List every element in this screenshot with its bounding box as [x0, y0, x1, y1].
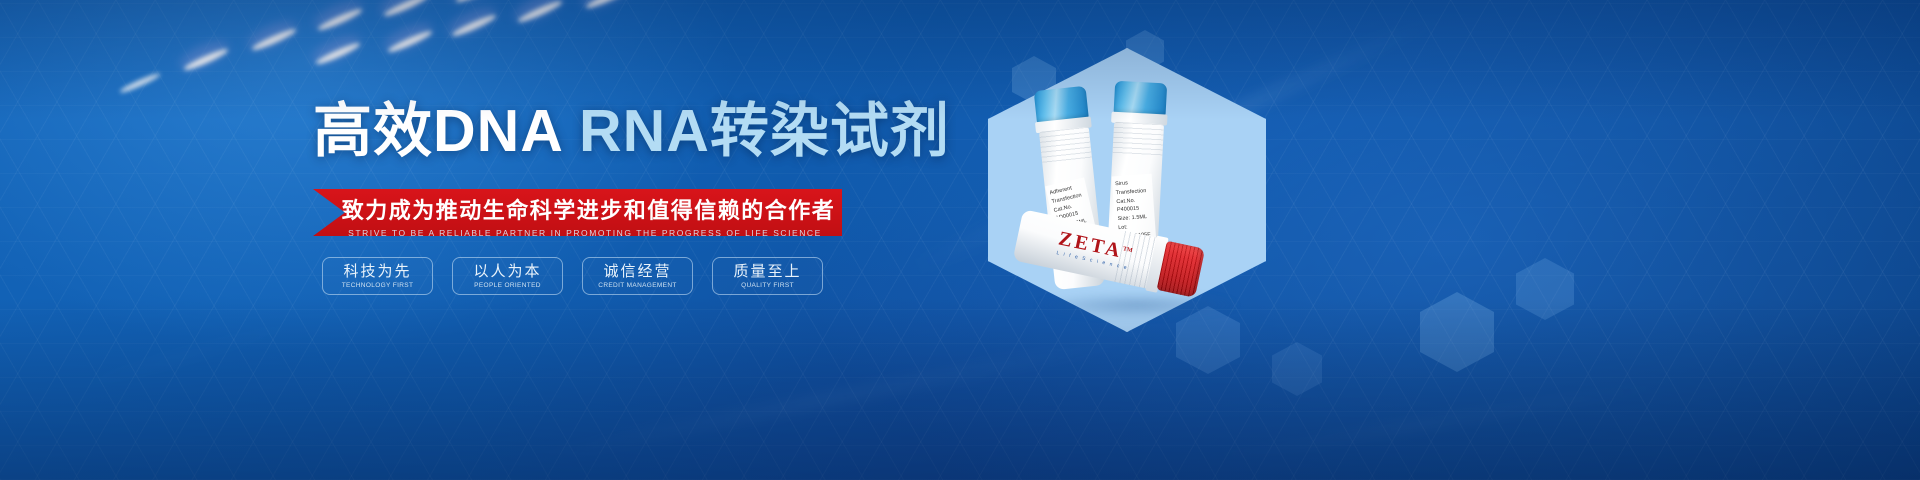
promo-banner: 高效DNA RNA转染试剂 致力成为推动生命科学进步和值得信赖的合作者 STRI…	[0, 0, 1920, 480]
badge-people-oriented[interactable]: 以人为本 PEOPLE ORIENTED	[452, 257, 563, 295]
vial-threads	[1112, 122, 1164, 159]
product-shadow	[1032, 292, 1242, 318]
badge-label-en: PEOPLE ORIENTED	[474, 282, 541, 289]
badge-label-en: QUALITY FIRST	[741, 282, 794, 289]
vial-threads	[1039, 127, 1092, 166]
badge-label-en: TECHNOLOGY FIRST	[342, 282, 414, 289]
banner-content: 高效DNA RNA转染试剂 致力成为推动生命科学进步和值得信赖的合作者 STRI…	[0, 0, 980, 480]
headline-secondary: RNA转染试剂	[579, 98, 950, 164]
tagline-subtitle: STRIVE TO BE A RELIABLE PARTNER IN PROMO…	[335, 228, 835, 238]
badge-quality-first[interactable]: 质量至上 QUALITY FIRST	[712, 257, 823, 295]
headline-primary: 高效DNA	[313, 98, 579, 164]
badge-label-cn: 诚信经营	[603, 263, 671, 280]
page-title: 高效DNA RNA转染试剂	[313, 101, 950, 163]
vial-cap-blue	[1114, 81, 1168, 117]
badge-label-cn: 质量至上	[733, 263, 801, 280]
badge-label-en: CREDIT MANAGEMENT	[598, 282, 676, 289]
badge-label-cn: 以人为本	[473, 263, 541, 280]
tagline-text: 致力成为推动生命科学进步和值得信赖的合作者	[313, 193, 842, 225]
product-showcase: Adherent Transfection Cat.No. AD00015 Si…	[980, 0, 1920, 480]
badge-label-cn: 科技为先	[343, 263, 411, 280]
trademark-mark: TM	[1122, 246, 1133, 254]
badge-credit-management[interactable]: 诚信经营 CREDIT MANAGEMENT	[582, 257, 693, 295]
value-badge-list: 科技为先 TECHNOLOGY FIRST 以人为本 PEOPLE ORIENT…	[322, 257, 823, 295]
badge-technology-first[interactable]: 科技为先 TECHNOLOGY FIRST	[322, 257, 433, 295]
